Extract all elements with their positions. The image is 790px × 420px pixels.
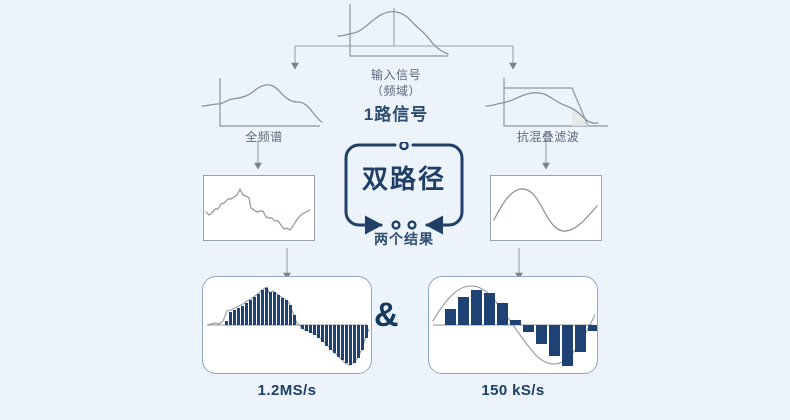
full-spectrum-plot — [200, 76, 328, 134]
input-signal-caption-line1: 输入信号 — [334, 66, 458, 83]
dual-path-label: 双路径 — [343, 166, 465, 192]
noisy-waveform-box — [203, 175, 315, 241]
full-spectrum-caption: 全频谱 — [200, 128, 328, 145]
low-rate-bar-chart — [429, 277, 597, 373]
low-rate-result-panel — [428, 276, 598, 374]
diagram-canvas: 输入信号 （频域） 1路信号 全频谱 抗混叠滤波 — [0, 0, 790, 420]
anti-aliasing-filter-plot — [484, 76, 612, 134]
conjunction-ampersand: & — [374, 298, 399, 332]
low-rate-label: 150 kS/s — [428, 382, 598, 399]
channel-count-label: 1路信号 — [334, 100, 458, 125]
input-signal-spectrum-plot — [336, 2, 456, 64]
input-signal-caption-line2: （频域） — [334, 82, 458, 99]
high-rate-result-panel — [202, 276, 372, 374]
dual-path-badge: 双路径 — [343, 142, 465, 238]
anti-aliasing-filter-caption: 抗混叠滤波 — [484, 128, 612, 145]
high-rate-bar-chart — [203, 277, 371, 373]
high-rate-label: 1.2MS/s — [202, 382, 372, 399]
sine-waveform-box — [490, 175, 602, 241]
two-results-label: 两个结果 — [343, 229, 465, 249]
